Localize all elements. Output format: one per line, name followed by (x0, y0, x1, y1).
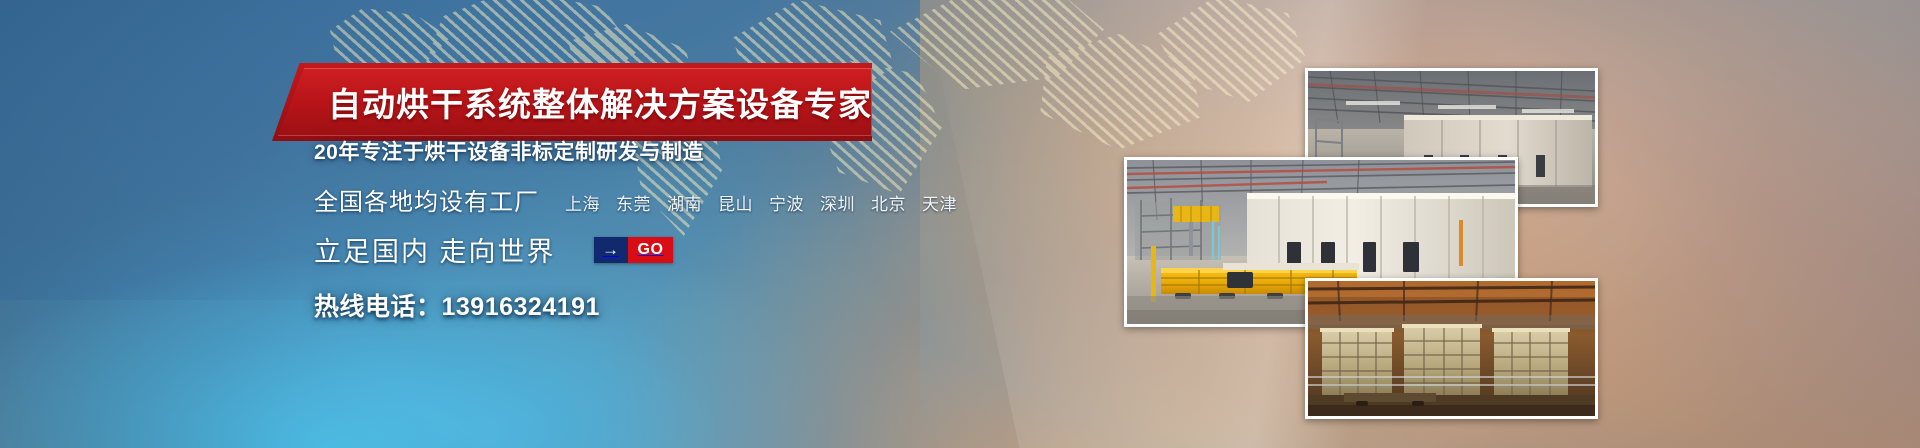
hotline-text: 热线电话：13916324191 (314, 287, 934, 323)
headline-ribbon: 自动烘干系统整体解决方案设备专家 (272, 63, 872, 141)
copy-block: 20年专注于烘干设备非标定制研发与制造 全国各地均设有工厂 上海 东莞 湖南 昆… (314, 136, 934, 323)
photo-drying-racks (1305, 278, 1598, 419)
city-item: 湖南 (667, 190, 702, 215)
promo-banner: 自动烘干系统整体解决方案设备专家 20年专注于烘干设备非标定制研发与制造 全国各… (0, 0, 1920, 448)
city-item: 东莞 (616, 190, 651, 215)
city-item: 上海 (565, 190, 600, 215)
go-button[interactable]: → GO (594, 237, 674, 263)
city-item: 昆山 (718, 190, 753, 215)
city-item: 北京 (871, 190, 906, 215)
headline-text: 自动烘干系统整体解决方案设备专家 (328, 63, 872, 141)
factories-row: 全国各地均设有工厂 上海 东莞 湖南 昆山 宁波 深圳 北京 天津 (314, 182, 934, 217)
city-item: 宁波 (769, 190, 804, 215)
city-item: 天津 (922, 190, 957, 215)
city-item: 深圳 (820, 190, 855, 215)
slogan-text: 立足国内 走向世界 (314, 230, 556, 269)
slogan-row: 立足国内 走向世界 → GO (314, 230, 934, 269)
factories-label: 全国各地均设有工厂 (314, 182, 539, 217)
city-list: 上海 东莞 湖南 昆山 宁波 深圳 北京 天津 (565, 190, 957, 215)
arrow-right-icon: → (594, 237, 628, 263)
go-button-label: GO (628, 237, 674, 263)
drying-racks-illustration (1308, 281, 1595, 416)
subheadline-experience: 20年专注于烘干设备非标定制研发与制造 (314, 136, 934, 166)
